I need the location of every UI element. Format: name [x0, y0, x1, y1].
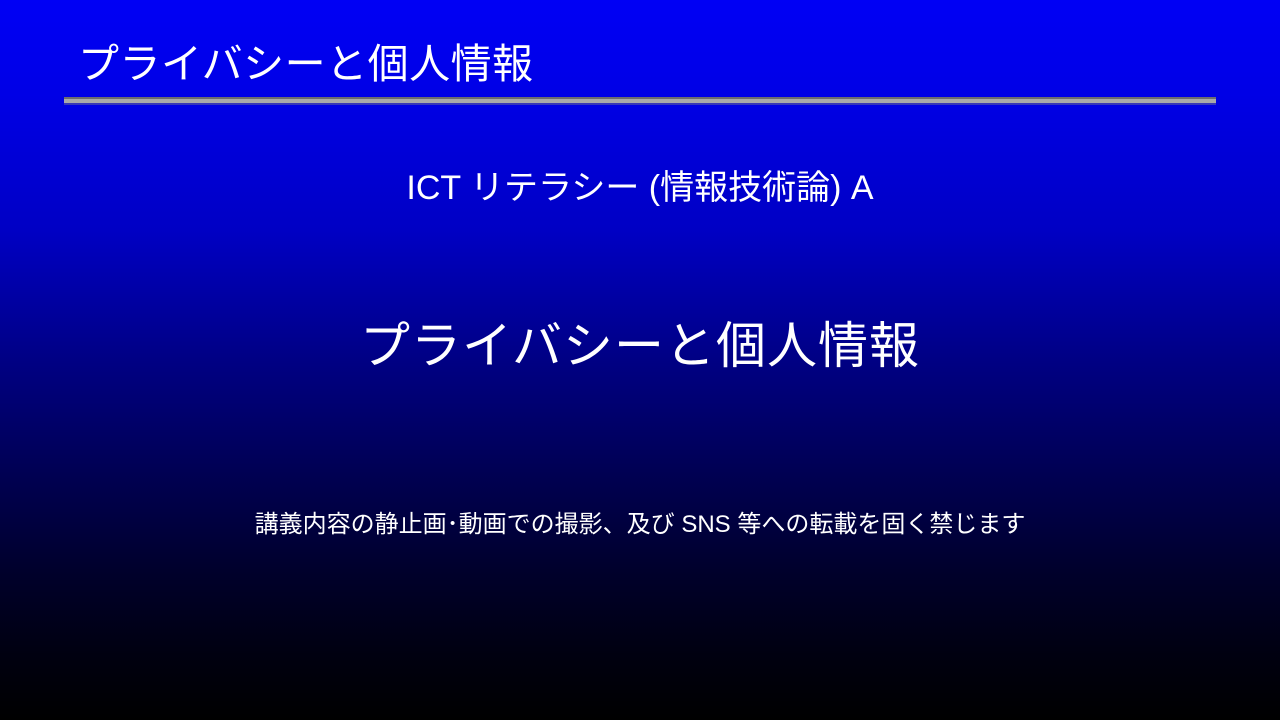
- presentation-slide: プライバシーと個人情報 ICT リテラシー (情報技術論) A プライバシーと個…: [0, 0, 1280, 720]
- recording-prohibition-notice: 講義内容の静止画･動画での撮影、及び SNS 等への転載を固く禁じます: [0, 504, 1280, 539]
- header-divider: [64, 97, 1216, 105]
- slide-header-title: プライバシーと個人情報: [78, 41, 534, 88]
- course-label: ICT リテラシー (情報技術論) A: [0, 160, 1280, 209]
- divider-shadow-line: [64, 103, 1216, 105]
- slide-main-title: プライバシーと個人情報: [0, 306, 1280, 378]
